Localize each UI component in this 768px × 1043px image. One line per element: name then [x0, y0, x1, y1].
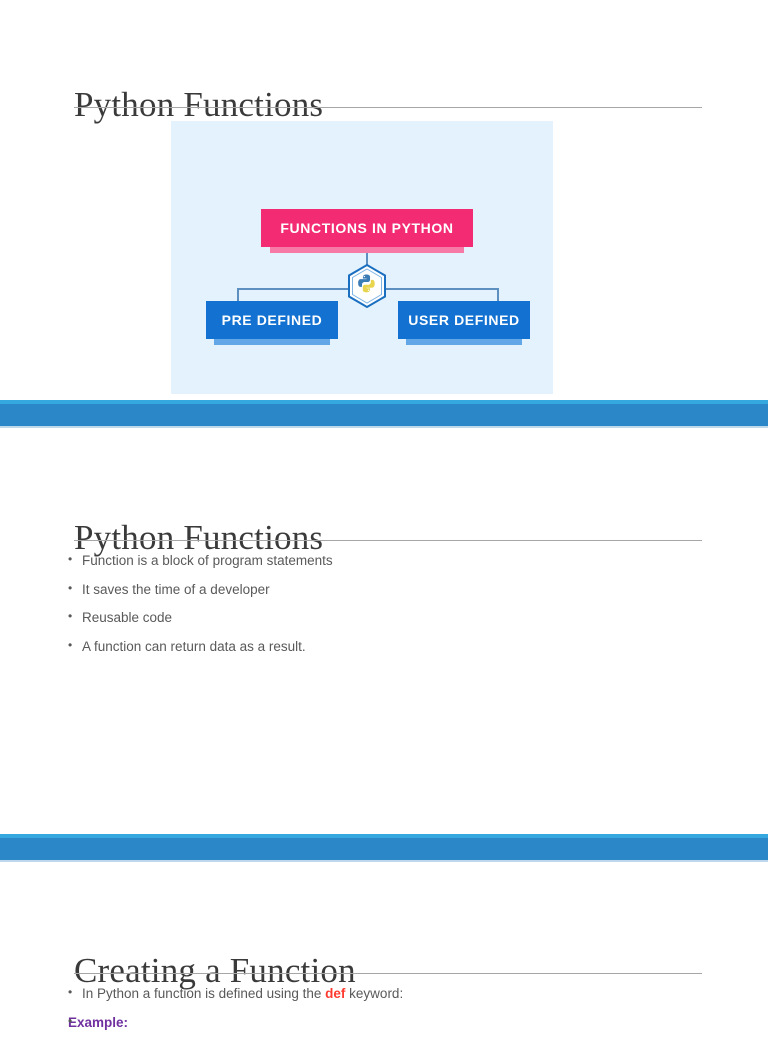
divider-body — [0, 404, 768, 426]
slide-divider-2 — [0, 834, 768, 862]
list-item: Reusable code — [68, 610, 708, 625]
diagram-node-root: FUNCTIONS IN PYTHON — [261, 209, 473, 247]
bullet-list: Function is a block of program statement… — [68, 553, 708, 667]
divider-foot — [0, 426, 768, 428]
connector-to-right-node — [497, 288, 499, 302]
title-rule — [74, 107, 702, 108]
document-scroll-view[interactable]: Python Functions FUNCTIONS IN PYTHON PRE… — [0, 0, 768, 1024]
root-node-shadow — [270, 247, 464, 253]
list-item: It saves the time of a developer — [68, 582, 708, 597]
list-item: In Python a function is defined using th… — [68, 986, 708, 1001]
bullet-text-suffix: keyword: — [345, 986, 403, 1001]
diagram-node-user-defined: USER DEFINED — [398, 301, 530, 339]
example-heading: Example: — [68, 1015, 708, 1030]
bullet-text-prefix: In Python a function is defined using th… — [82, 986, 325, 1001]
functions-in-python-diagram: FUNCTIONS IN PYTHON PRE DEFINED USER DEF… — [171, 121, 553, 394]
connector-to-left-node — [237, 288, 239, 302]
title-rule — [74, 540, 702, 541]
bullet-list: In Python a function is defined using th… — [68, 986, 708, 1043]
diagram-node-pre-defined: PRE DEFINED — [206, 301, 338, 339]
list-item: A function can return data as a result. — [68, 639, 708, 654]
example-label: Example: — [68, 1015, 128, 1030]
slide-divider-1 — [0, 400, 768, 428]
right-node-shadow — [406, 339, 522, 345]
list-item: Function is a block of program statement… — [68, 553, 708, 568]
slide-1: Python Functions FUNCTIONS IN PYTHON PRE… — [0, 0, 768, 400]
python-logo-hexagon-icon — [348, 264, 386, 308]
title-rule — [74, 973, 702, 974]
left-node-shadow — [214, 339, 330, 345]
slide-2: Python Functions Function is a block of … — [0, 430, 768, 834]
def-keyword: def — [325, 986, 345, 1001]
page-title: Python Functions — [74, 85, 323, 125]
slide-3: Creating a Function In Python a function… — [0, 862, 768, 1024]
divider-body — [0, 838, 768, 860]
